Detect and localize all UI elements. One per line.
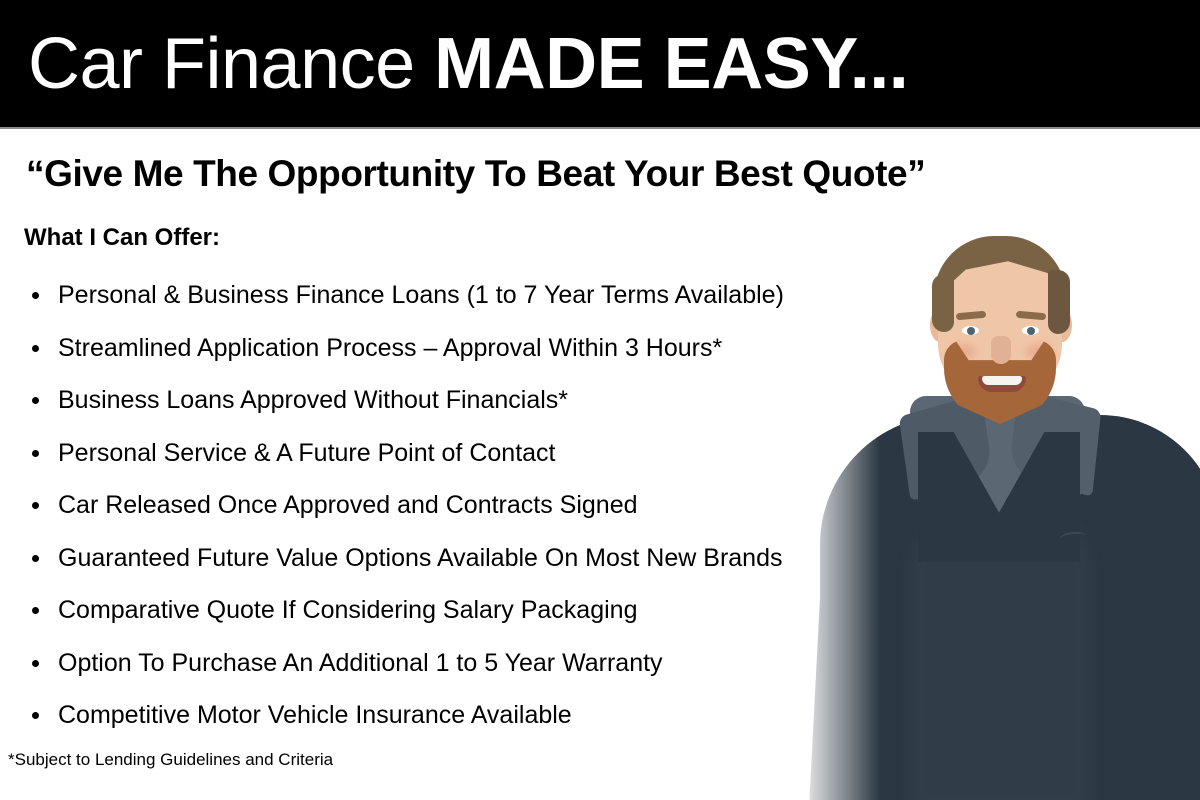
list-item: Personal Service & A Future Point of Con… [24,427,924,480]
list-item-label: Guaranteed Future Value Options Availabl… [58,544,782,572]
list-item-label: Personal & Business Finance Loans (1 to … [58,281,784,309]
bullet-dot-icon [32,712,39,719]
offer-bullet-list: Personal & Business Finance Loans (1 to … [24,269,924,742]
bullet-dot-icon [32,555,39,562]
list-item-label: Competitive Motor Vehicle Insurance Avai… [58,701,572,729]
page-title: Car Finance MADE EASY... [28,21,908,107]
bullet-dot-icon [32,450,39,457]
list-item: Competitive Motor Vehicle Insurance Avai… [24,689,924,742]
bullet-dot-icon [32,397,39,404]
list-item: Comparative Quote If Considering Salary … [24,584,924,637]
list-item: Personal & Business Finance Loans (1 to … [24,269,924,322]
page-title-bold: MADE EASY... [434,24,908,104]
list-item: Option To Purchase An Additional 1 to 5 … [24,637,924,690]
bullet-dot-icon [32,292,39,299]
page-title-regular: Car Finance [28,24,434,104]
list-item: Guaranteed Future Value Options Availabl… [24,532,924,585]
list-item-label: Streamlined Application Process – Approv… [58,334,722,362]
headline-quote: “Give Me The Opportunity To Beat Your Be… [26,153,1176,195]
bullet-dot-icon [32,345,39,352]
bullet-dot-icon [32,607,39,614]
bullet-dot-icon [32,660,39,667]
list-item: Streamlined Application Process – Approv… [24,322,924,375]
bullet-dot-icon [32,502,39,509]
offer-heading: What I Can Offer: [24,224,220,252]
list-item-label: Option To Purchase An Additional 1 to 5 … [58,649,663,677]
list-item-label: Business Loans Approved Without Financia… [58,386,568,414]
list-item: Car Released Once Approved and Contracts… [24,479,924,532]
content-area: “Give Me The Opportunity To Beat Your Be… [0,127,1200,800]
poster: Car Finance MADE EASY... “Giv [0,0,1200,800]
list-item-label: Car Released Once Approved and Contracts… [58,491,638,519]
list-item-label: Personal Service & A Future Point of Con… [58,439,556,467]
list-item-label: Comparative Quote If Considering Salary … [58,596,637,624]
list-item: Business Loans Approved Without Financia… [24,374,924,427]
footnote-disclaimer: *Subject to Lending Guidelines and Crite… [8,750,333,770]
